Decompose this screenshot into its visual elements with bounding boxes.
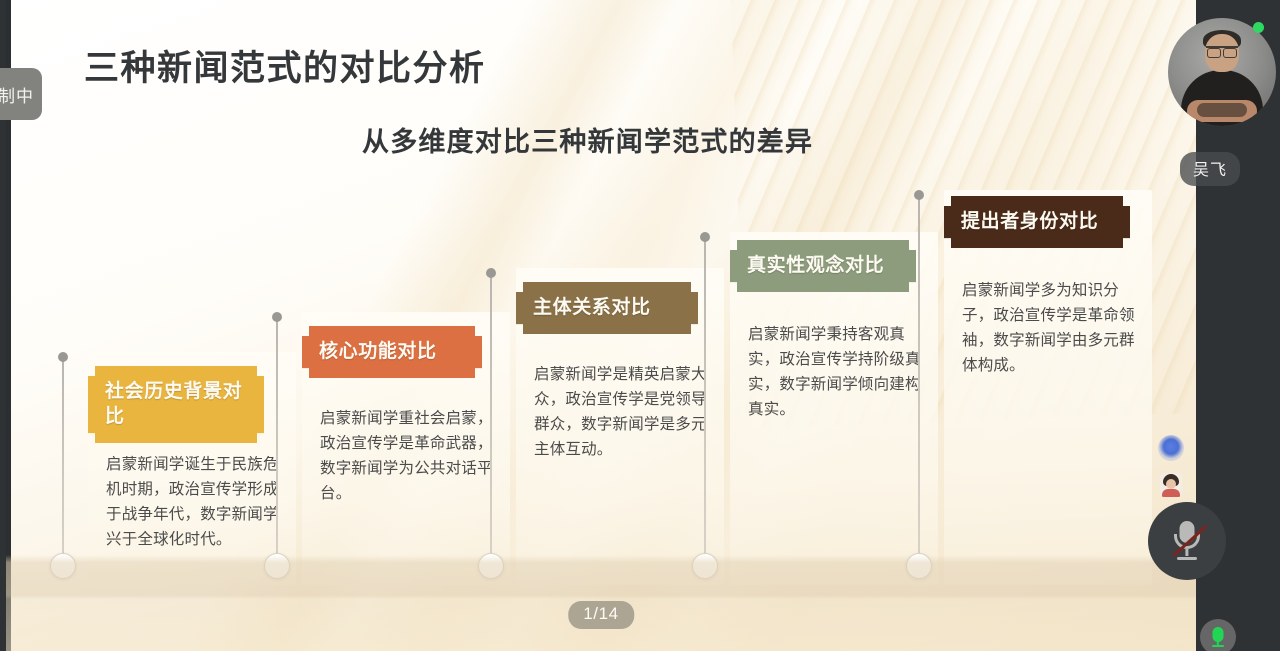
timeline-stem	[490, 272, 492, 578]
participant-avatar-icon[interactable]	[1160, 473, 1182, 497]
speaker-name-label: 吴飞	[1180, 152, 1240, 186]
timeline-node[interactable]	[692, 553, 718, 579]
timeline-node[interactable]	[478, 553, 504, 579]
card-heading-1: 社会历史背景对比	[88, 366, 264, 443]
app-screen: 三种新闻范式的对比分析 从多维度对比三种新闻学范式的差异 社会历史背景对比 启蒙…	[0, 0, 1280, 651]
card-body-2: 启蒙新闻学重社会启蒙，政治宣传学是革命武器，数字新闻学为公共对话平台。	[320, 406, 500, 506]
card-heading-2: 核心功能对比	[302, 326, 482, 378]
timeline-stem	[918, 194, 920, 578]
speaker-video-avatar[interactable]	[1168, 18, 1276, 126]
timeline-node[interactable]	[906, 553, 932, 579]
card-heading-4: 真实性观念对比	[730, 240, 916, 292]
timeline-stem-dot	[700, 232, 710, 242]
avatar-arms	[1187, 100, 1257, 122]
timeline-stem-dot	[486, 268, 496, 278]
timeline-chart: 社会历史背景对比 启蒙新闻学诞生于民族危机时期，政治宣传学形成于战争年代，数字新…	[6, 0, 1196, 651]
timeline-stem	[704, 236, 706, 578]
column-panel	[944, 190, 1152, 585]
reaction-icon[interactable]	[1158, 435, 1184, 461]
timeline-stem-dot	[58, 352, 68, 362]
page-indicator: 1/14	[568, 601, 634, 629]
timeline-stem-dot	[914, 190, 924, 200]
card-heading-3: 主体关系对比	[516, 282, 698, 334]
timeline-stem	[62, 356, 64, 578]
recording-badge: 录制中	[0, 68, 42, 120]
mic-unmuted-icon	[1200, 619, 1236, 651]
card-body-1: 启蒙新闻学诞生于民族危机时期，政治宣传学形成于战争年代，数字新闻学兴于全球化时代…	[106, 452, 286, 552]
timeline-node[interactable]	[264, 553, 290, 579]
presence-online-dot	[1253, 22, 1264, 33]
timeline-stem	[276, 316, 278, 578]
timeline-node[interactable]	[50, 553, 76, 579]
card-heading-5: 提出者身份对比	[944, 196, 1130, 248]
mic-muted-icon[interactable]	[1148, 502, 1226, 580]
timeline-stem-dot	[272, 312, 282, 322]
card-body-3: 启蒙新闻学是精英启蒙大众，政治宣传学是党领导群众，数字新闻学是多元主体互动。	[534, 362, 714, 462]
card-body-5: 启蒙新闻学多为知识分子，政治宣传学是革命领袖，数字新闻学由多元群体构成。	[962, 278, 1148, 378]
card-body-4: 启蒙新闻学秉持客观真实，政治宣传学持阶级真实，数字新闻学倾向建构真实。	[748, 322, 934, 422]
presentation-slide: 三种新闻范式的对比分析 从多维度对比三种新闻学范式的差异 社会历史背景对比 启蒙…	[6, 0, 1196, 651]
avatar-glasses	[1206, 46, 1238, 55]
